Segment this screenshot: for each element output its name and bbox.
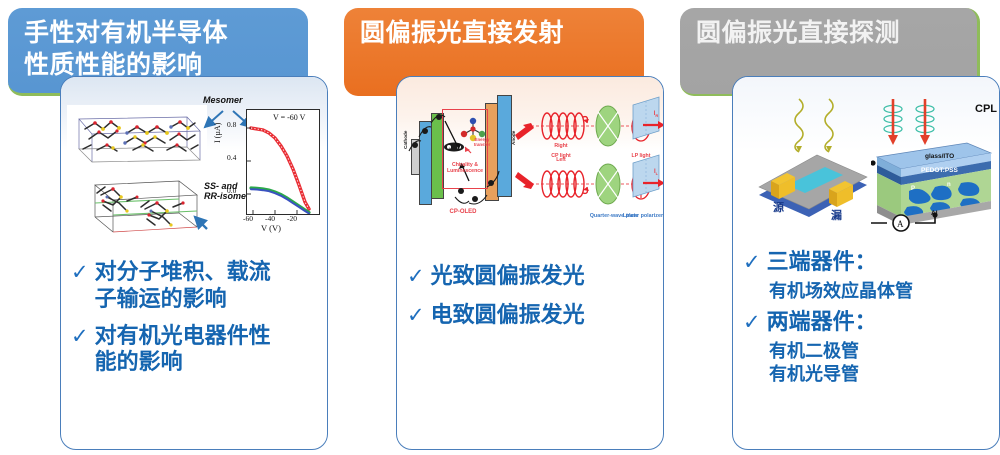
panel-3-bullet-1-sub: 有机二极管 有机光导管 (769, 340, 991, 385)
label-n-layer: n (947, 182, 951, 188)
label-pedot-pss: PEDOT:PSS (921, 167, 958, 174)
check-icon: ✓ (71, 262, 89, 283)
label-cp-light: CP light (533, 153, 589, 159)
panel-2-title: 圆偏振光直接发射 (360, 17, 632, 49)
output-curve-chart: V = -60 V (246, 109, 320, 215)
panel-3-bullet-0-sub: 有机场效应晶体管 (769, 280, 991, 303)
panel-2-bullet-1[interactable]: ✓ 电致圆偏振发光 (407, 302, 655, 329)
panel-3-bullet-1-text: 两端器件： (767, 309, 877, 336)
panel-2-bullets: ✓ 光致圆偏振发光 ✓ 电致圆偏振发光 (407, 263, 655, 333)
chart-annotation: V = -60 V (273, 113, 305, 122)
label-cpl: CPL (975, 103, 997, 115)
slide-board: 手性对有机半导体 性质性能的影响 (0, 0, 1000, 455)
label-al: Al (931, 210, 938, 217)
chart-xtick-2: -20 (287, 214, 297, 223)
panel-3-bullet-1[interactable]: ✓ 两端器件： (743, 309, 991, 336)
label-source: 源 (773, 199, 784, 215)
panel-1-bullet-0-text: 对分子堆积、载流 子输运的影响 (95, 259, 271, 313)
chart-xtick-0: -60 (243, 214, 253, 223)
label-drain: 漏 (831, 207, 842, 223)
panel-3-bullet-0-text: 三端器件： (767, 249, 877, 276)
output-intensity-arrows (641, 111, 664, 203)
panel-3-card: 源 漏 (732, 76, 1000, 450)
svg-text:A: A (897, 219, 904, 229)
chart-ytick-2: 0.0 (227, 186, 236, 195)
panel-2-bullet-0-text: 光致圆偏振发光 (431, 263, 585, 290)
panel-2-card: + - (396, 76, 664, 450)
panel-2-bullet-1-text: 电致圆偏振发光 (431, 302, 585, 329)
panel-cpl-emission: 圆偏振光直接发射 + - (344, 8, 662, 448)
chart-ytick-0: 0.8 (227, 120, 236, 129)
chart-ylabel: I (µA) (213, 123, 222, 143)
check-icon: ✓ (71, 326, 89, 347)
incident-light-waves (783, 97, 853, 153)
chart-xlabel: V (V) (261, 223, 281, 233)
panel-1-bullet-0[interactable]: ✓ 对分子堆积、载流 子输运的影响 (71, 259, 319, 313)
check-icon: ✓ (743, 312, 761, 333)
quarter-wave-plate-bottom (593, 163, 623, 205)
panel-3-bullets: ✓ 三端器件： 有机场效应晶体管 ✓ 两端器件： 有机二极管 有机光导管 (743, 249, 991, 392)
check-icon: ✓ (407, 305, 425, 326)
carrier-injection-arrows (401, 101, 521, 211)
panel-1-bullets: ✓ 对分子堆积、载流 子输运的影响 ✓ 对有机光电器件性 能的影响 (71, 259, 319, 380)
label-cp-oled: CP-OLED (433, 209, 493, 216)
panel-3-title: 圆偏振光直接探测 (696, 17, 968, 49)
panel-cpl-detection: 圆偏振光直接探测 源 (680, 8, 998, 448)
panel-3-figure: 源 漏 (735, 85, 997, 240)
label-right: Right (537, 143, 585, 149)
ofet-device (751, 141, 871, 225)
panel-1-card: Mesomer SS- and RR-isomer (60, 76, 328, 450)
panel-1-bullet-1-text: 对有机光电器件性 能的影响 (95, 323, 271, 377)
label-mesomer: Mesomer (203, 95, 243, 105)
panel-3-bullet-0[interactable]: ✓ 三端器件： (743, 249, 991, 276)
chart-xtick-1: -40 (265, 214, 275, 223)
label-intensity-left: IL (649, 169, 663, 177)
panel-1-figure: Mesomer SS- and RR-isomer (61, 83, 327, 243)
check-icon: ✓ (407, 266, 425, 287)
check-icon: ✓ (743, 252, 761, 273)
panel-2-figure: + - (401, 87, 659, 237)
label-glass-ito: glass/ITO (925, 153, 954, 160)
label-cathode: Cathode (403, 131, 408, 149)
chart-ytick-1: 0.4 (227, 153, 236, 162)
label-chirality-luminescence: Chirality & Luminescence (445, 162, 485, 174)
quarter-wave-plate-top (593, 105, 623, 147)
panel-1-bullet-1[interactable]: ✓ 对有机光电器件性 能的影响 (71, 323, 319, 377)
panel-2-bullet-0[interactable]: ✓ 光致圆偏振发光 (407, 263, 655, 290)
panel-chirality-effects: 手性对有机半导体 性质性能的影响 (8, 8, 326, 448)
label-linear-polarizer: Linear polarizer (619, 213, 664, 219)
label-intensity-right: IR (649, 111, 663, 119)
crystal-packing-mesomer (67, 105, 207, 163)
panel-1-title: 手性对有机半导体 性质性能的影响 (24, 17, 296, 81)
label-p-layer: P (911, 186, 915, 192)
label-energy-transfer: Energy transfer (471, 137, 493, 147)
